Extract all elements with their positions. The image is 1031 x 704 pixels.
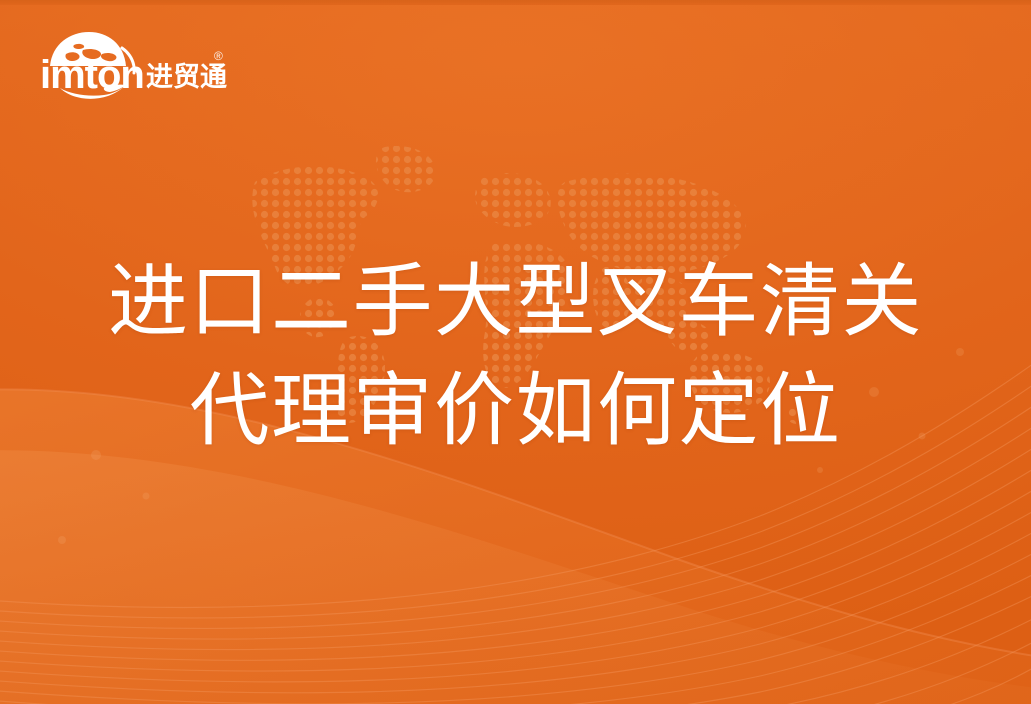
wave-shape-secondary [0, 450, 1031, 704]
logo-svg: imton 进贸通 ® [42, 28, 227, 106]
brand-logo[interactable]: imton 进贸通 ® [42, 28, 227, 106]
logo-chinese-name: 进贸通 [146, 62, 227, 93]
registered-trademark-icon: ® [214, 49, 223, 63]
logo-wordmark: imton [42, 53, 144, 97]
poster-canvas: imton 进贸通 ® 进口二手大型叉车清关 代理审价如何定位 [0, 0, 1031, 704]
